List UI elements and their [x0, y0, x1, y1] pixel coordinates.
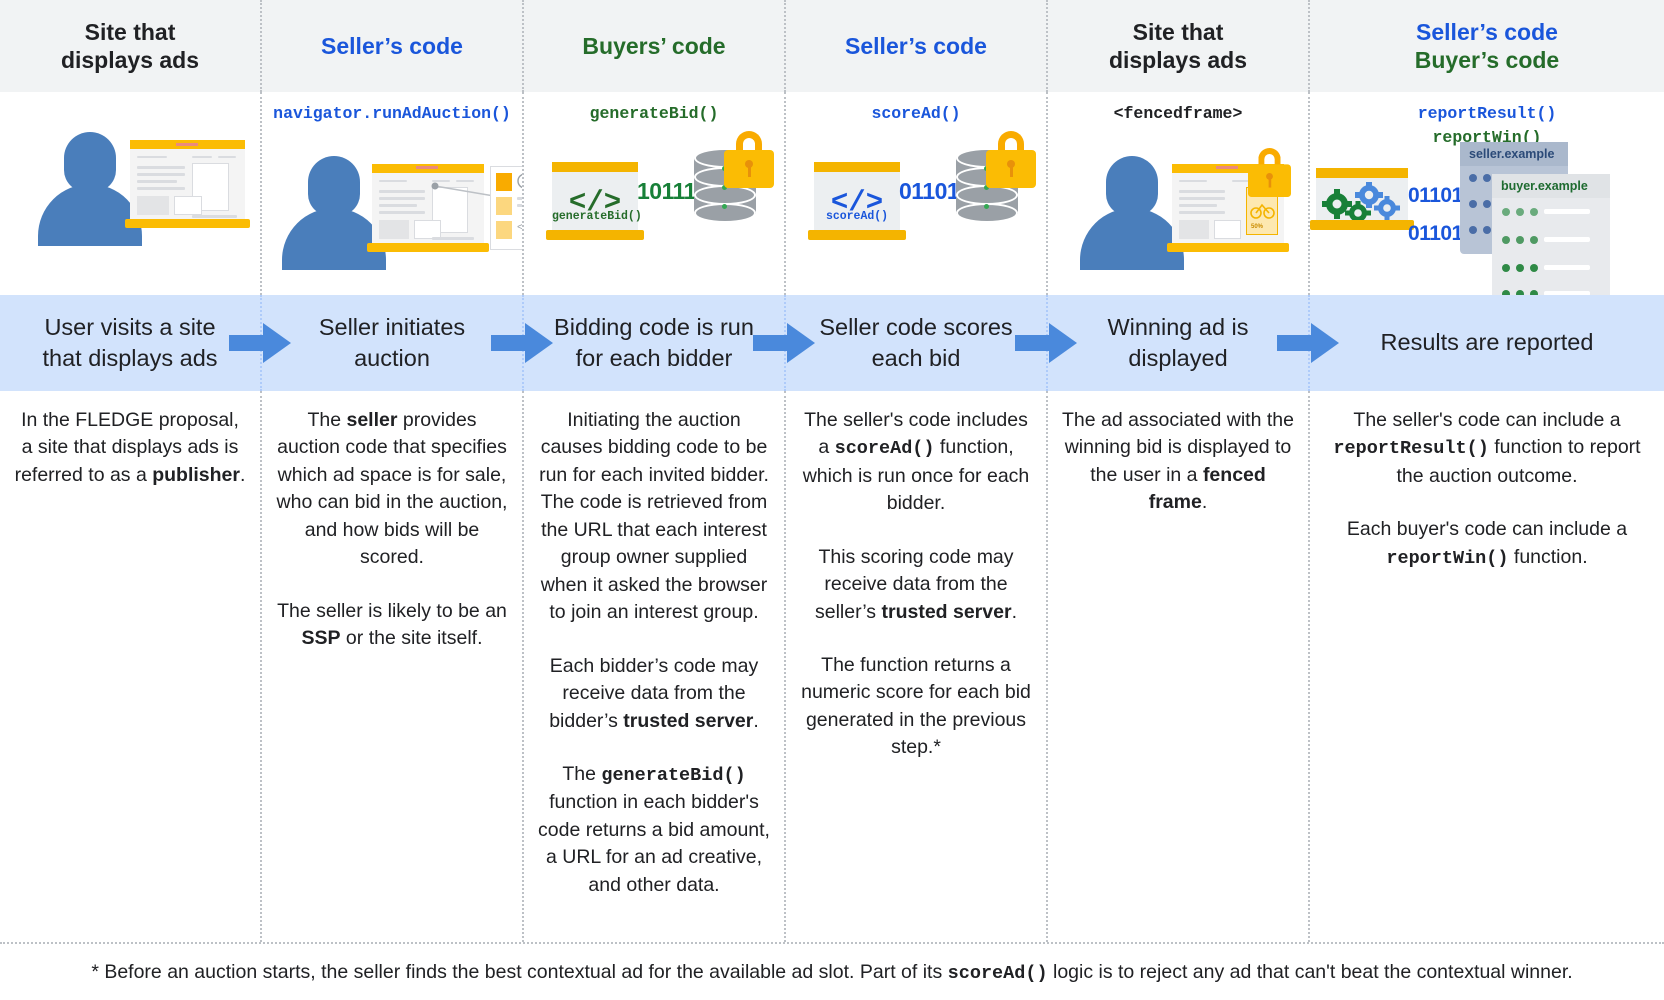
api-label-5: <fencedframe>: [1114, 102, 1243, 126]
illustration-cell-2: navigator.runAdAuction(): [262, 92, 524, 295]
step-cell-3: Bidding code is run for each bidder: [524, 295, 786, 391]
buyer-report-card: buyer.example: [1492, 174, 1610, 295]
description-cell-4: The seller's code includes a scoreAd() f…: [786, 391, 1048, 942]
column-header-4-line-1: Seller’s code: [845, 32, 987, 60]
step-label-6: Results are reported: [1381, 327, 1594, 358]
step-label-5: Winning ad is displayed: [1070, 312, 1286, 374]
browser-window-icon: [130, 140, 245, 228]
ad-slot: [496, 221, 512, 239]
illustration-cell-5: <fencedframe>: [1048, 92, 1310, 295]
column-header-6-line-2: Buyer’s code: [1415, 46, 1559, 74]
column-header-2-line-1: Seller’s code: [321, 32, 463, 60]
arrow-right-icon: [1013, 321, 1079, 365]
lock-icon: [986, 131, 1036, 188]
arrow-right-icon: [751, 321, 817, 365]
illustration-cell-6: reportResult() reportWin(): [1310, 92, 1664, 295]
description-cell-6: The seller's code can include a reportRe…: [1310, 391, 1664, 942]
fledge-flow-diagram: Site that displays ads Seller’s code Buy…: [0, 0, 1664, 1000]
gears-window-icon: [1316, 168, 1408, 230]
column-header-3-line-1: Buyers’ code: [582, 32, 725, 60]
description-cell-5: The ad associated with the winning bid i…: [1048, 391, 1310, 942]
illustration-row: navigator.runAdAuction(): [0, 92, 1664, 295]
illustration-generatebid-code-db: </> generateBid() 1011110: [524, 126, 784, 295]
step-cell-6: Results are reported: [1310, 295, 1664, 391]
column-header-3: Buyers’ code: [524, 0, 786, 92]
ad-slot: [496, 197, 512, 215]
step-label-4: Seller code scores each bid: [808, 312, 1024, 374]
column-header-2: Seller’s code: [262, 0, 524, 92]
buyer-report-title: buyer.example: [1492, 174, 1610, 198]
step-band: User visits a site that displays ads Sel…: [0, 295, 1664, 391]
description-cell-2: The seller provides auction code that sp…: [262, 391, 524, 942]
api-label-2: navigator.runAdAuction(): [273, 102, 511, 126]
user-avatar-icon: [38, 132, 142, 246]
illustration-gears-reports: 0110111 01101110 seller.example: [1310, 150, 1664, 295]
step-cell-5: Winning ad is displayed: [1048, 295, 1310, 391]
illustration-person-fenced-ad: 50%: [1048, 126, 1308, 295]
illustration-person-adslots: < >: [262, 126, 522, 295]
column-header-4: Seller’s code: [786, 0, 1048, 92]
step-label-2: Seller initiates auction: [284, 312, 500, 374]
user-avatar-icon: [1080, 156, 1184, 270]
step-cell-2: Seller initiates auction: [262, 295, 524, 391]
column-header-6-line-1: Seller’s code: [1416, 18, 1558, 46]
pie-chart-icon: [517, 173, 524, 189]
ad-slot-list-panel: < >: [490, 166, 524, 250]
footnote-text: * Before an auction starts, the seller f…: [91, 961, 1572, 984]
footnote: * Before an auction starts, the seller f…: [0, 942, 1664, 1000]
gears-icon: [1319, 180, 1407, 224]
column-header-6: Seller’s code Buyer’s code: [1310, 0, 1664, 92]
step-label-1: User visits a site that displays ads: [22, 312, 238, 374]
illustration-cell-1: [0, 92, 262, 295]
api-label-4: scoreAd(): [871, 102, 960, 126]
ad-slot-selected: [496, 173, 512, 191]
column-header-5-line-2: displays ads: [1109, 46, 1247, 74]
code-window-icon: </> scoreAd(): [814, 162, 900, 240]
description-cell-1: In the FLEDGE proposal, a site that disp…: [0, 391, 262, 942]
lock-icon: [724, 131, 774, 188]
column-header-1-line-1: Site that: [85, 18, 176, 46]
code-window-icon: </> generateBid(): [552, 162, 638, 240]
browser-window-icon: [372, 164, 484, 252]
lock-icon: [1248, 148, 1284, 191]
step-cell-1: User visits a site that displays ads: [0, 295, 262, 391]
illustration-cell-3: generateBid() </> generateBid() 1011110: [524, 92, 786, 295]
user-avatar-icon: [282, 156, 386, 270]
illustration-scoread-code-db: </> scoreAd() 0110111: [786, 126, 1046, 295]
header-row: Site that displays ads Seller’s code Buy…: [0, 0, 1664, 92]
bike-ad-icon: [1249, 200, 1277, 220]
code-window-label: generateBid(): [552, 210, 638, 223]
column-header-1: Site that displays ads: [0, 0, 262, 92]
description-row: In the FLEDGE proposal, a site that disp…: [0, 391, 1664, 942]
arrow-right-icon: [1275, 321, 1341, 365]
step-cell-4: Seller code scores each bid: [786, 295, 1048, 391]
illustration-person-viewing-page: [0, 102, 260, 295]
api-label-6-line-1: reportResult(): [1418, 104, 1557, 123]
column-header-1-line-2: displays ads: [61, 46, 199, 74]
illustration-cell-4: scoreAd() </> scoreAd() 0110111: [786, 92, 1048, 295]
seller-report-title: seller.example: [1460, 142, 1568, 166]
code-window-label: scoreAd(): [814, 210, 900, 223]
api-label-3: generateBid(): [590, 102, 719, 126]
description-cell-3: Initiating the auction causes bidding co…: [524, 391, 786, 942]
step-label-3: Bidding code is run for each bidder: [546, 312, 762, 374]
arrow-right-icon: [489, 321, 555, 365]
column-header-5: Site that displays ads: [1048, 0, 1310, 92]
column-header-5-line-1: Site that: [1133, 18, 1224, 46]
arrow-right-icon: [227, 321, 293, 365]
